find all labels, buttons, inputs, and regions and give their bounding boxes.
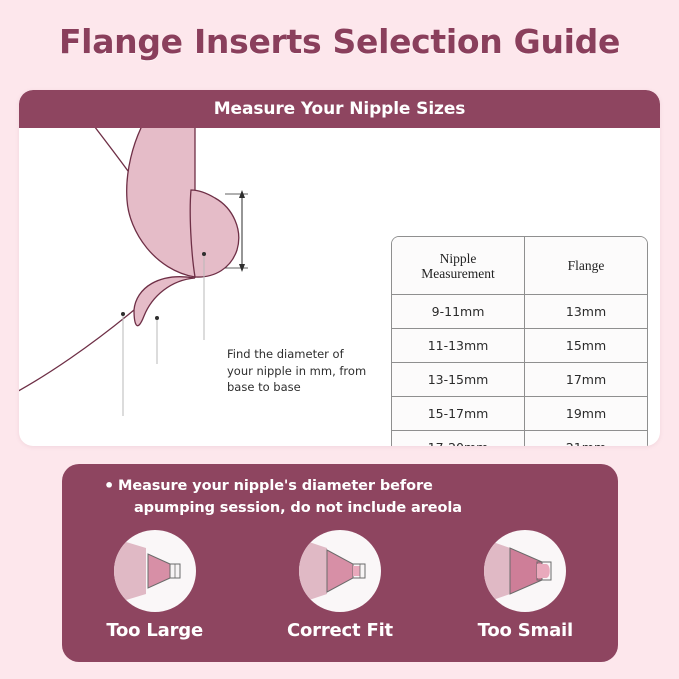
fit-item-too-small: Too Smail	[450, 528, 600, 641]
breast-lower-curve	[19, 310, 134, 396]
cell-measurement: 9-11mm	[392, 295, 525, 329]
breast-anatomy-illustration	[19, 128, 374, 446]
fit-label-too-large: Too Large	[106, 620, 203, 641]
fit-item-too-large: Too Large	[80, 528, 230, 641]
table-header-measurement: Nipple Measurement	[392, 237, 525, 295]
fit-item-correct-fit: Correct Fit	[265, 528, 415, 641]
cell-measurement: 11-13mm	[392, 329, 525, 363]
measure-card: Measure Your Nipple Sizes	[19, 90, 660, 446]
header-measurement-line2: Measurement	[421, 266, 494, 281]
too-large-flange-icon	[112, 528, 198, 614]
card-banner-title: Measure Your Nipple Sizes	[214, 99, 466, 119]
areola-body	[127, 128, 195, 277]
table-body: 9-11mm 13mm 11-13mm 15mm 13-15mm 17mm 15…	[392, 295, 647, 446]
table-header-flange: Flange	[525, 237, 647, 295]
nipple-shape	[190, 190, 239, 277]
page-title: Flange Inserts Selection Guide	[0, 22, 679, 61]
bullet-icon: •	[104, 475, 114, 497]
table-header-row: Nipple Measurement Flange	[392, 237, 647, 295]
anatomy-diagram	[19, 128, 374, 446]
panel-note-line1: Measure your nipple's diameter before	[118, 478, 433, 494]
cell-flange: 13mm	[525, 295, 647, 329]
cell-measurement: 17-20mm	[392, 431, 525, 446]
fit-guide-panel: • Measure your nipple's diameter before …	[62, 464, 618, 662]
header-measurement-line1: Nipple	[440, 251, 477, 266]
cell-flange: 17mm	[525, 363, 647, 397]
table-row: 13-15mm 17mm	[392, 363, 647, 397]
cell-flange: 21mm	[525, 431, 647, 446]
table-row: 15-17mm 19mm	[392, 397, 647, 431]
correct-fit-flange-icon	[297, 528, 383, 614]
cell-measurement: 13-15mm	[392, 363, 525, 397]
fit-examples-row: Too Large Correct Fit	[62, 528, 618, 641]
cell-measurement: 15-17mm	[392, 397, 525, 431]
table-row: 11-13mm 15mm	[392, 329, 647, 363]
card-banner: Measure Your Nipple Sizes	[19, 90, 660, 128]
too-small-flange-icon	[482, 528, 568, 614]
panel-note-line2: apumping session, do not include areola	[118, 497, 578, 519]
fit-label-too-small: Too Smail	[478, 620, 573, 641]
table-row: 9-11mm 13mm	[392, 295, 647, 329]
cell-flange: 19mm	[525, 397, 647, 431]
areola-shape	[134, 277, 195, 326]
cell-flange: 15mm	[525, 329, 647, 363]
flange-size-table: Nipple Measurement Flange 9-11mm 13mm 11…	[392, 237, 647, 446]
panel-note: • Measure your nipple's diameter before …	[118, 475, 578, 519]
fit-label-correct-fit: Correct Fit	[287, 620, 393, 641]
diagram-note: Find the diameter of your nipple in mm, …	[227, 346, 367, 396]
table-row: 17-20mm 21mm	[392, 431, 647, 446]
